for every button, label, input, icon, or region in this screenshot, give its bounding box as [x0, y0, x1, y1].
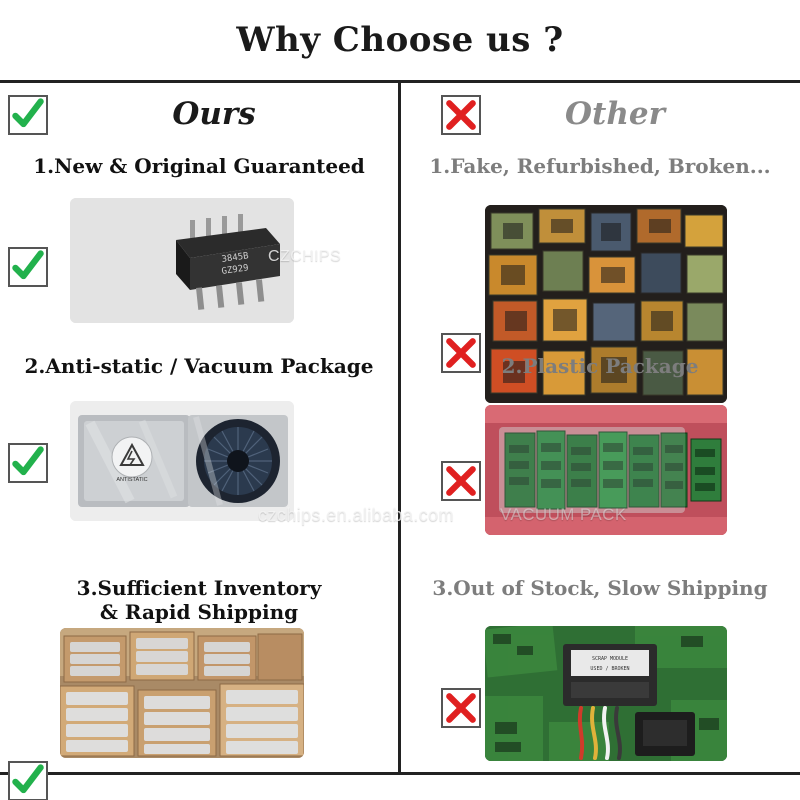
- other-item-3: 3.Out of Stock, Slow Shipping: [401, 577, 799, 601]
- ours-header: Ours: [0, 83, 398, 145]
- green-check-icon: [8, 443, 48, 483]
- ours-heading: Ours: [0, 96, 398, 132]
- other-item-2-label: 2.Plastic Package: [401, 355, 799, 379]
- antistatic-bag-and-reel-photo: ANTISTATIC: [70, 401, 294, 521]
- green-check-icon: [8, 247, 48, 287]
- other-item-3-label: 3.Out of Stock, Slow Shipping: [401, 577, 799, 601]
- svg-text:USED / BROKEN: USED / BROKEN: [590, 666, 629, 672]
- column-ours: Ours 1.New & Original Guaranteed: [0, 83, 398, 772]
- ours-item-3: 3.Sufficient Inventory & Rapid Shipping: [0, 577, 398, 624]
- page-title: Why Choose us ?: [236, 20, 563, 60]
- ours-item-1: 1.New & Original Guaranteed: [0, 155, 398, 179]
- green-check-icon: [8, 761, 48, 800]
- other-header: Other: [401, 83, 799, 145]
- other-item-2: 2.Plastic Package: [401, 355, 799, 379]
- ours-item-3-label-line2: & Rapid Shipping: [0, 601, 398, 625]
- svg-text:ANTISTATIC: ANTISTATIC: [116, 477, 147, 483]
- red-cross-icon: [441, 688, 481, 728]
- other-item-1-label: 1.Fake, Refurbished, Broken...: [401, 155, 799, 179]
- ours-item-2-label: 2.Anti-static / Vacuum Package: [0, 355, 398, 379]
- red-cross-icon: [441, 95, 481, 135]
- green-check-icon: [8, 95, 48, 135]
- ours-item-2: 2.Anti-static / Vacuum Package: [0, 355, 398, 379]
- ours-item-1-label: 1.New & Original Guaranteed: [0, 155, 398, 179]
- cardboard-boxes-photo: [60, 628, 304, 758]
- pcb-scrap-photo: SCRAP MODULE USED / BROKEN: [485, 626, 727, 761]
- svg-text:SCRAP MODULE: SCRAP MODULE: [592, 656, 628, 662]
- pcb-in-plastic-tray-photo: [485, 405, 727, 535]
- column-other: Other 1.Fake, Refurbished, Broken...: [401, 83, 799, 772]
- red-cross-icon: [441, 461, 481, 501]
- title-bar: Why Choose us ?: [0, 0, 800, 80]
- ours-item-3-label-line1: 3.Sufficient Inventory: [0, 577, 398, 601]
- other-item-1: 1.Fake, Refurbished, Broken...: [401, 155, 799, 179]
- ic-chip-photo: 3845B GZ929: [70, 198, 294, 323]
- comparison-infographic: Why Choose us ? Ours 1.New & Original Gu…: [0, 0, 800, 800]
